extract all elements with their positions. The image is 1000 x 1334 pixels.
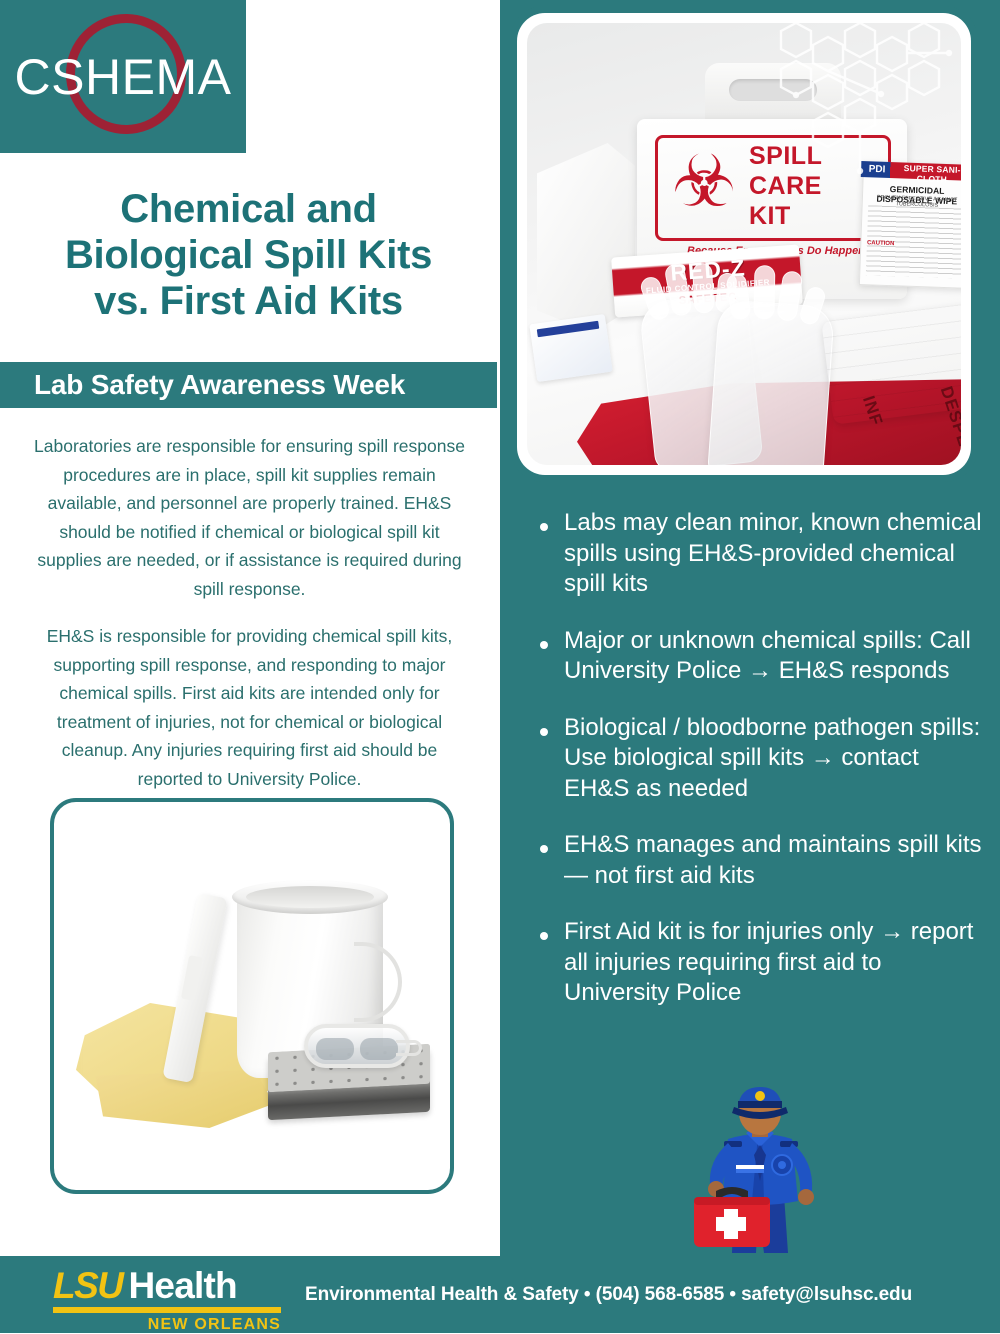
list-item: Major or unknown chemical spills: Call U… [532, 626, 984, 687]
safety-goggles [304, 1024, 410, 1068]
bucket-handle [354, 942, 402, 1022]
biohazard-icon: ☣ [667, 145, 741, 219]
glove-finger [753, 265, 775, 319]
lsu-logo-wordmark: LSU Health [53, 1266, 281, 1306]
goggle-lens-right [360, 1038, 398, 1060]
photo-inner-border: ☣ SPILL CARE KIT Because Emergencies Do … [517, 13, 971, 475]
body-paragraph-1: Laboratories are responsible for ensurin… [32, 432, 467, 603]
list-item: First Aid kit is for injuries only → rep… [532, 917, 984, 1009]
body-paragraph-2: EH&S is responsible for providing chemic… [32, 622, 467, 793]
lsu-mark-text: LSU [53, 1266, 123, 1306]
bullet-dot-icon [540, 932, 548, 940]
spill-kit-illustration: ☣ SPILL CARE KIT Because Emergencies Do … [527, 23, 961, 465]
subtitle-text: Lab Safety Awareness Week [0, 369, 405, 401]
list-item: Labs may clean minor, known chemical spi… [532, 508, 984, 600]
kit-box-handle-hole [729, 79, 817, 101]
chemical-spill-kit-photo [50, 798, 454, 1194]
footer-contact-text: Environmental Health & Safety • (504) 56… [305, 1284, 912, 1306]
list-item-text: Labs may clean minor, known chemical spi… [564, 509, 982, 597]
body-text-block: Laboratories are responsible for ensurin… [32, 432, 467, 793]
police-officer-illustration [672, 1085, 848, 1253]
list-item-text: First Aid kit is for injuries only → rep… [564, 918, 973, 1006]
footer-bar: LSU Health NEW ORLEANS Environmental Hea… [0, 1256, 1000, 1333]
poster-canvas: CSHEMA Chemical and Biological Spill Kit… [0, 0, 1000, 1333]
bucket-rim-inner [246, 886, 374, 908]
bullet-dot-icon [540, 523, 548, 531]
bucket-illustration [54, 802, 450, 1190]
goggle-strap [396, 1040, 422, 1056]
subtitle-band: Lab Safety Awareness Week [0, 362, 497, 408]
list-item: Biological / bloodborne pathogen spills:… [532, 713, 984, 805]
title-line-2: Biological Spill Kits [0, 232, 497, 278]
lsu-city-text: NEW ORLEANS [53, 1316, 281, 1334]
cshema-logo: CSHEMA [0, 0, 246, 153]
goggle-lens-left [316, 1038, 354, 1060]
sani-cloth-brand: SUPER SANI-CLOTH [893, 163, 961, 186]
lsu-health-text: Health [129, 1266, 237, 1306]
title-line-1: Chemical and [0, 186, 497, 232]
pdi-logo-text: PDI [863, 164, 891, 176]
title-line-3: vs. First Aid Kits [0, 278, 497, 324]
glove-finger [692, 263, 715, 314]
list-item-text: Biological / bloodborne pathogen spills:… [564, 714, 980, 802]
page-title: Chemical and Biological Spill Kits vs. F… [0, 186, 497, 324]
face-mask [821, 301, 961, 424]
bullet-dot-icon [540, 845, 548, 853]
bullet-dot-icon [540, 728, 548, 736]
latex-glove-right [707, 299, 835, 465]
list-item-text: EH&S manages and maintains spill kits — … [564, 831, 982, 889]
cshema-logo-text: CSHEMA [0, 48, 246, 106]
lsu-logo-rule [53, 1307, 281, 1313]
list-item: EH&S manages and maintains spill kits — … [532, 830, 984, 891]
list-item-text: Major or unknown chemical spills: Call U… [564, 627, 971, 685]
key-points-list: Labs may clean minor, known chemical spi… [532, 508, 984, 1009]
biological-spill-kit-photo-frame: ☣ SPILL CARE KIT Because Emergencies Do … [510, 6, 978, 482]
lsu-health-logo: LSU Health NEW ORLEANS [53, 1266, 281, 1324]
bullet-dot-icon [540, 641, 548, 649]
